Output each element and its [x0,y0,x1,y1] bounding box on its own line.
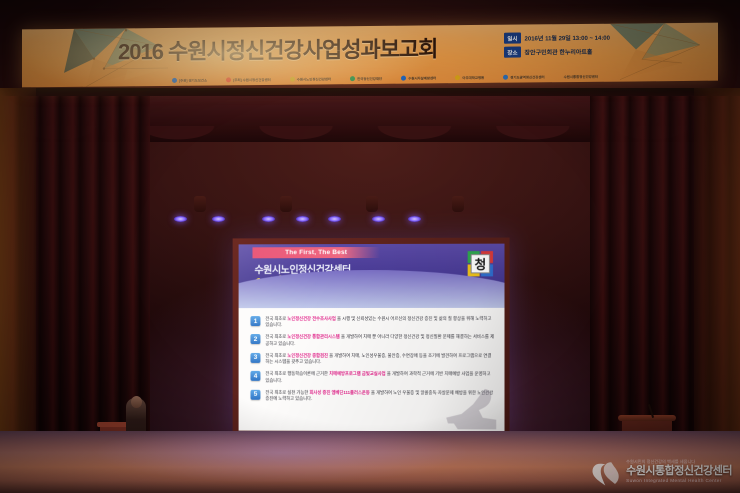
list-item-highlight: 노인정신건강 전수조사사업 [287,316,335,321]
slide-title: 10가지 주요사업 [254,272,352,293]
presentation-slide: The First, The Best 수원시노인정신건강센터 10가지 주요사… [239,244,505,432]
sponsor-logo: 경기도광역정신건강센터 [503,74,544,79]
led-light [212,216,225,222]
stage-lamp-icon [366,196,378,212]
banner-info-value-place: 장안구민회관 한누리아트홀 [525,47,593,57]
sponsor-label: 아주대학교병원 [462,75,484,80]
banner-info-tag-place: 장소 [504,47,520,58]
list-item: 3 전국 최초로 노인정신건강 종합검진 을 개발하여 치매, 노인성우울증, … [250,353,494,366]
heart-logo-icon [591,457,621,487]
sponsor-label: [주관] 경기도보건소 [179,78,207,83]
sponsor-logo: [주최] 수원시정신건강센터 [226,77,271,82]
list-item-highlight: 회사성 증진 엠베딘111플러스운동 [309,389,369,394]
banner-title: 2016 수원시정신건강사업성과보고회 [118,31,437,66]
list-item-highlight: 노인정신건강 통합관리시스템 [287,334,339,339]
banner-sponsor-row: [주관] 경기도보건소 [주최] 수원시정신건강센터 수원시노인정신건강센터 한… [172,74,598,83]
slide-ribbon: The First, The Best [252,247,380,258]
led-light [174,216,187,222]
list-item-lead: 전국 최초로 [265,334,286,339]
sponsor-mark-icon [455,75,460,80]
sponsor-mark-icon [350,76,355,81]
list-item-text: 전국 최초로 노인정신건강 종합검진 을 개발하여 치매, 노인성우울증, 불안… [265,353,494,366]
led-light [296,216,309,222]
sponsor-logo: [주관] 경기도보건소 [172,78,207,83]
slide-header: The First, The Best 수원시노인정신건강센터 10가지 주요사… [239,244,505,309]
sponsor-label: 경기도광역정신건강센터 [510,74,544,79]
sponsor-logo: 수원시노인정신건강센터 [290,76,331,81]
list-item-number: 3 [250,353,260,363]
svg-text:청: 청 [474,257,486,272]
lighting-truss [170,196,600,222]
list-item: 2 전국 최초로 노인정신건강 통합관리시스템 을 개발하여 치매 뿐 아니라 … [250,334,494,347]
sponsor-mark-icon [290,77,295,82]
list-item-lead: 전국 최초로 [265,316,286,321]
stage-lamp-icon [452,196,464,212]
list-item-lead: 전국 최초로 행동학습이론에 근거한 [265,371,328,376]
sponsor-logo: 아주대학교병원 [455,75,484,80]
list-item-highlight: 치매예방프로그램 금빛교실사업 [329,371,385,376]
sponsor-label: 한국정신건강재단 [357,76,382,81]
list-item-lead: 전국 최초로 실천 가능한 [265,389,308,394]
sponsor-label: 수원시노인정신건강센터 [297,76,331,81]
watermark-korean-name: 수원시통합정신건강센터 [626,466,732,477]
presenter-silhouette-shadow [440,385,498,429]
slide-description: 수원시노인정신건강센터는 전국에서 최초로 노인들을 대상으로 특화된 정신건강… [254,289,439,303]
list-item-number: 5 [250,389,260,399]
projection-screen-frame: The First, The Best 수원시노인정신건강센터 10가지 주요사… [233,238,510,437]
led-light [372,216,385,222]
sponsor-mark-icon [503,75,508,80]
stage-lamp-icon [194,196,206,212]
presenter-head [131,396,142,408]
watermark-english-name: Suwon Integrated Mental Health Center [626,479,732,484]
banner-info-row-place: 장소 장안구민회관 한누리아트홀 [504,46,610,58]
list-item-highlight: 노인정신건강 종합검진 [287,353,328,358]
list-item-text: 전국 최초로 노인정신건강 전수조사사업 을 시행 및 신뢰성있는 수원시 어르… [265,316,494,329]
slide-ribbon-label: The First, The Best [285,249,347,256]
banner-info-tag-date: 일시 [504,33,520,44]
event-banner: 2016 수원시정신건강사업성과보고회 일시 2016년 11월 29일 13:… [22,23,718,88]
sponsor-logo: 수원시통합정신건강센터 [564,74,598,79]
sponsor-label: 수원시자살예방센터 [408,75,436,80]
auditorium-photo: 2016 수원시정신건강사업성과보고회 일시 2016년 11월 29일 13:… [0,0,740,493]
sponsor-label: [주최] 수원시정신건강센터 [233,77,271,82]
sponsor-logo: 수원시자살예방센터 [401,75,436,80]
list-item-number: 4 [250,371,260,381]
watermark-tagline: 수원시민의 정신건강의 백세를 세웁니다 [626,460,732,464]
sponsor-mark-icon [226,77,231,82]
list-item: 1 전국 최초로 노인정신건강 전수조사사업 을 시행 및 신뢰성있는 수원시 … [250,316,494,329]
banner-info-value-date: 2016년 11월 29일 13:00 ~ 14:00 [525,33,610,43]
sponsor-mark-icon [401,76,406,81]
list-item-text: 전국 최초로 행동학습이론에 근거한 치매예방프로그램 금빛교실사업 을 개발하… [265,371,494,384]
center-logo-icon: 청 [466,250,494,278]
list-item-text: 전국 최초로 노인정신건강 통합관리시스템 을 개발하여 치매 뿐 아니라 다양… [265,334,494,347]
led-light [408,216,421,222]
banner-info-block: 일시 2016년 11월 29일 13:00 ~ 14:00 장소 장안구민회관… [504,32,610,58]
list-item-number: 1 [250,316,260,326]
stage-lamp-icon [280,196,292,212]
watermark: 수원시민의 정신건강의 백세를 세웁니다 수원시통합정신건강센터 Suwon I… [591,457,732,487]
sponsor-logo: 한국정신건강재단 [350,76,382,81]
banner-info-row-date: 일시 2016년 11월 29일 13:00 ~ 14:00 [504,32,610,44]
watermark-text: 수원시민의 정신건강의 백세를 세웁니다 수원시통합정신건강센터 Suwon I… [626,460,732,484]
sponsor-mark-icon [172,78,177,83]
led-light [328,216,341,222]
list-item-number: 2 [250,334,260,344]
sponsor-label: 수원시통합정신건강센터 [564,74,598,79]
list-item: 4 전국 최초로 행동학습이론에 근거한 치매예방프로그램 금빛교실사업 을 개… [250,371,494,384]
led-light [262,216,275,222]
list-item-lead: 전국 최초로 [265,353,286,358]
